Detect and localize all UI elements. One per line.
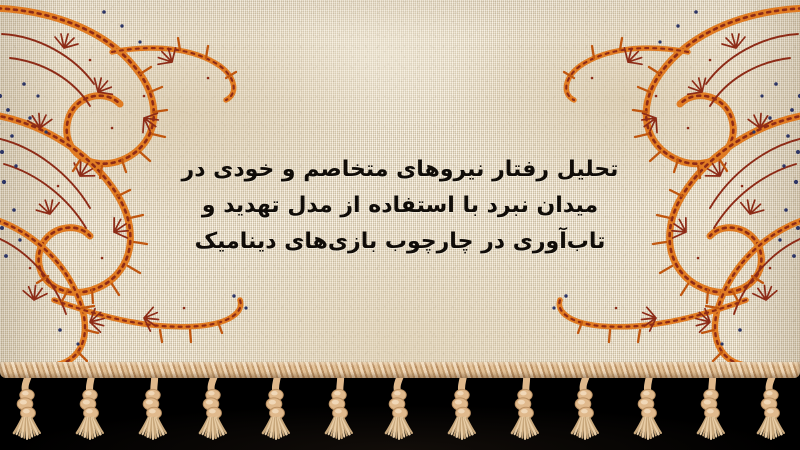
tassel xyxy=(440,371,488,447)
tassel xyxy=(626,371,674,447)
tassel xyxy=(68,371,116,447)
tassel xyxy=(130,371,178,447)
tassel xyxy=(502,371,550,447)
tassel xyxy=(192,371,240,447)
title-line-3: تاب‌آوری در چارچوب بازی‌های دینامیک xyxy=(0,224,800,260)
tassel xyxy=(378,371,426,447)
title-line-2: میدان نبرد با استفاده از مدل تهدید و xyxy=(0,188,800,224)
tassel xyxy=(750,371,798,447)
tassel-fringe-trim xyxy=(0,371,800,450)
tassel xyxy=(6,371,54,447)
page-title: تحلیل رفتار نیروهای متخاصم و خودی در مید… xyxy=(0,152,800,260)
tassel xyxy=(316,371,364,447)
tassel xyxy=(254,371,302,447)
tassel xyxy=(688,371,736,447)
title-slide: تحلیل رفتار نیروهای متخاصم و خودی در مید… xyxy=(0,0,800,450)
title-line-1: تحلیل رفتار نیروهای متخاصم و خودی در xyxy=(0,152,800,188)
tassel xyxy=(564,371,612,447)
rope-selvedge-edge xyxy=(0,362,800,378)
